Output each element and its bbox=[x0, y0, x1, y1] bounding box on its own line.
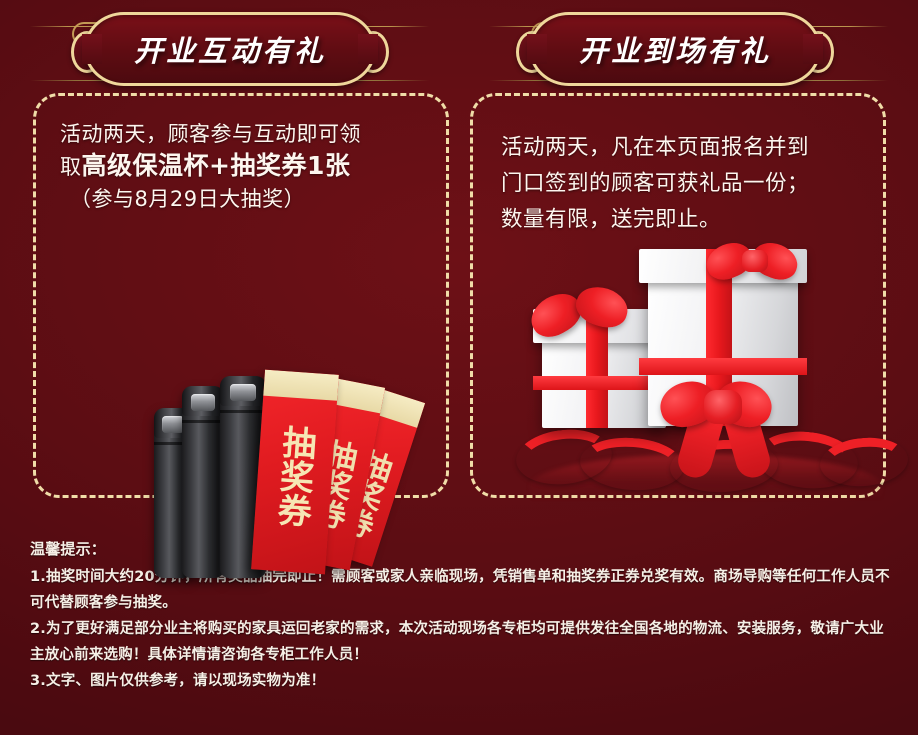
badge-title-left: 开业互动有礼 bbox=[84, 12, 376, 86]
thermos-ring-3 bbox=[220, 410, 266, 413]
badge-row: 开业互动有礼 开业到场有礼 bbox=[0, 0, 918, 92]
card-left-line1: 活动两天，顾客参与互动即可领 bbox=[60, 118, 434, 150]
badge-title-right: 开业到场有礼 bbox=[529, 12, 821, 86]
card-interactive-gift: 活动两天，顾客参与互动即可领 取高级保温杯+抽奖券1张 （参与8月29日大抽奖） bbox=[33, 93, 449, 498]
card-right-line3: 数量有限，送完即止。 bbox=[501, 202, 871, 238]
badge-interactive-gift: 开业互动有礼 bbox=[0, 8, 459, 92]
ticket-stub-1 bbox=[263, 370, 339, 401]
note-item-3: 3.文字、图片仅供参考，请以现场实物为准！ bbox=[30, 668, 896, 694]
bow-knot-top bbox=[742, 250, 768, 272]
card-left-line3: （参与8月29日大抽奖） bbox=[60, 183, 305, 215]
card-left-line2: 取高级保温杯+抽奖券1张 bbox=[60, 150, 434, 183]
card-right-line2: 门口签到的顾客可获礼品一份； bbox=[501, 166, 871, 202]
thermos-latch-3 bbox=[230, 384, 256, 401]
ticket-label-1: 抽奖券 bbox=[270, 405, 320, 547]
card-left-line2-strong: 高级保温杯+抽奖券1张 bbox=[82, 151, 351, 180]
thermos-bottle-icon-2 bbox=[182, 386, 224, 578]
thermos-latch-1 bbox=[162, 416, 183, 433]
card-left-line2-prefix: 取 bbox=[60, 155, 82, 179]
thermos-and-tickets-illustration: 抽奖券 抽奖券 抽奖券 bbox=[154, 366, 404, 581]
card-right-copy: 活动两天，凡在本页面报名并到 门口签到的顾客可获礼品一份； 数量有限，送完即止。 bbox=[501, 130, 871, 238]
badge-arrival-gift: 开业到场有礼 bbox=[459, 8, 918, 92]
note-item-2: 2.为了更好满足部分业主将购买的家具运回老家的需求，本次活动现场各专柜均可提供发… bbox=[30, 616, 896, 668]
gift-boxes-illustration bbox=[520, 248, 900, 488]
gift-bow-side bbox=[530, 288, 638, 344]
gift-bow-top bbox=[706, 240, 802, 284]
plaque-frame-2: 开业到场有礼 bbox=[529, 12, 821, 86]
plaque-frame: 开业互动有礼 bbox=[84, 12, 376, 86]
gift-bow-main bbox=[660, 376, 790, 446]
bow-loop-right-side bbox=[571, 281, 632, 333]
promo-page: 开业互动有礼 开业到场有礼 活动两天，顾客参与互动即可领 取高级保温杯+抽奖 bbox=[0, 0, 918, 735]
card-left-copy: 活动两天，顾客参与互动即可领 取高级保温杯+抽奖券1张 （参与8月29日大抽奖） bbox=[60, 118, 434, 215]
thermos-ring-2 bbox=[182, 420, 224, 423]
gift-box-large-horizontal-ribbon bbox=[639, 358, 807, 375]
lottery-ticket-1: 抽奖券 bbox=[251, 370, 339, 575]
thermos-latch-2 bbox=[191, 394, 215, 411]
bow-knot-main bbox=[704, 390, 742, 424]
card-right-line1: 活动两天，凡在本页面报名并到 bbox=[501, 130, 871, 166]
